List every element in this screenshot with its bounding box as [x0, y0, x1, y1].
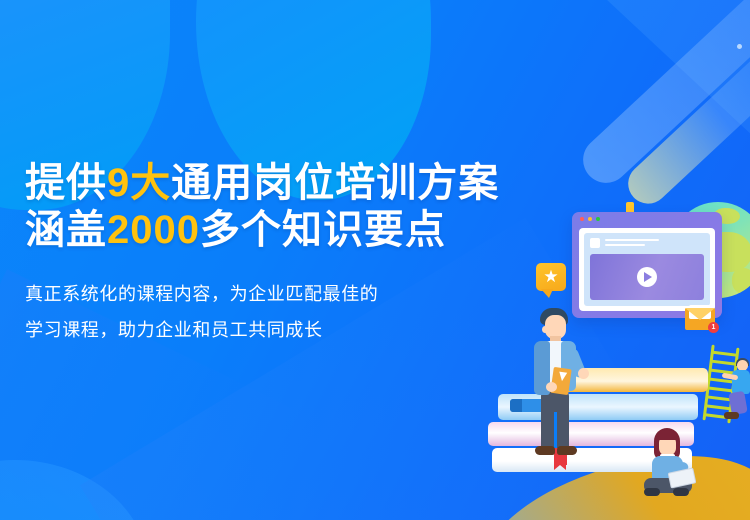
star-badge: ★	[536, 263, 566, 291]
promo-banner: 提供9大通用岗位培训方案 涵盖2000多个知识要点 真正系统化的课程内容，为企业…	[0, 0, 750, 520]
star-icon: ★	[536, 263, 566, 291]
headline-l1-part-3: 通用岗位培训方案	[171, 161, 499, 205]
subcopy-line-1: 真正系统化的课程内容，为企业匹配最佳的	[25, 276, 499, 312]
window-title-bar	[572, 212, 722, 225]
headline-line-1: 提供9大通用岗位培训方案	[25, 160, 499, 207]
text-line	[605, 239, 659, 241]
email-envelope-icon: 1	[685, 308, 715, 330]
banner-copy: 提供9大通用岗位培训方案 涵盖2000多个知识要点 真正系统化的课程内容，为企业…	[25, 160, 499, 348]
headline-line-2: 涵盖2000多个知识要点	[25, 207, 499, 254]
text-line	[605, 244, 645, 246]
window-body	[579, 228, 715, 311]
headline-l1-accent: 9大	[107, 161, 171, 205]
minimize-icon[interactable]	[588, 217, 592, 221]
maximize-icon[interactable]	[596, 217, 600, 221]
video-player-window[interactable]	[572, 212, 722, 318]
subcopy-line-2: 学习课程，助力企业和员工共同成长	[25, 312, 499, 348]
headline-l2-part-3: 多个知识要点	[200, 208, 446, 252]
avatar	[590, 238, 600, 248]
illustration: 1	[500, 180, 750, 480]
headline-l2-part-1: 涵盖	[25, 208, 107, 252]
envelope-badge-count: 1	[708, 322, 719, 333]
climbing-person	[728, 360, 750, 422]
close-icon[interactable]	[580, 217, 584, 221]
play-icon[interactable]	[637, 267, 657, 287]
sitting-woman-with-laptop	[640, 428, 698, 498]
headline-l1-part-1: 提供	[25, 161, 107, 205]
headline-l2-accent: 2000	[107, 208, 200, 252]
background-spark-dot	[737, 44, 742, 49]
video-area[interactable]	[590, 254, 704, 300]
standing-man-with-book	[526, 308, 588, 468]
